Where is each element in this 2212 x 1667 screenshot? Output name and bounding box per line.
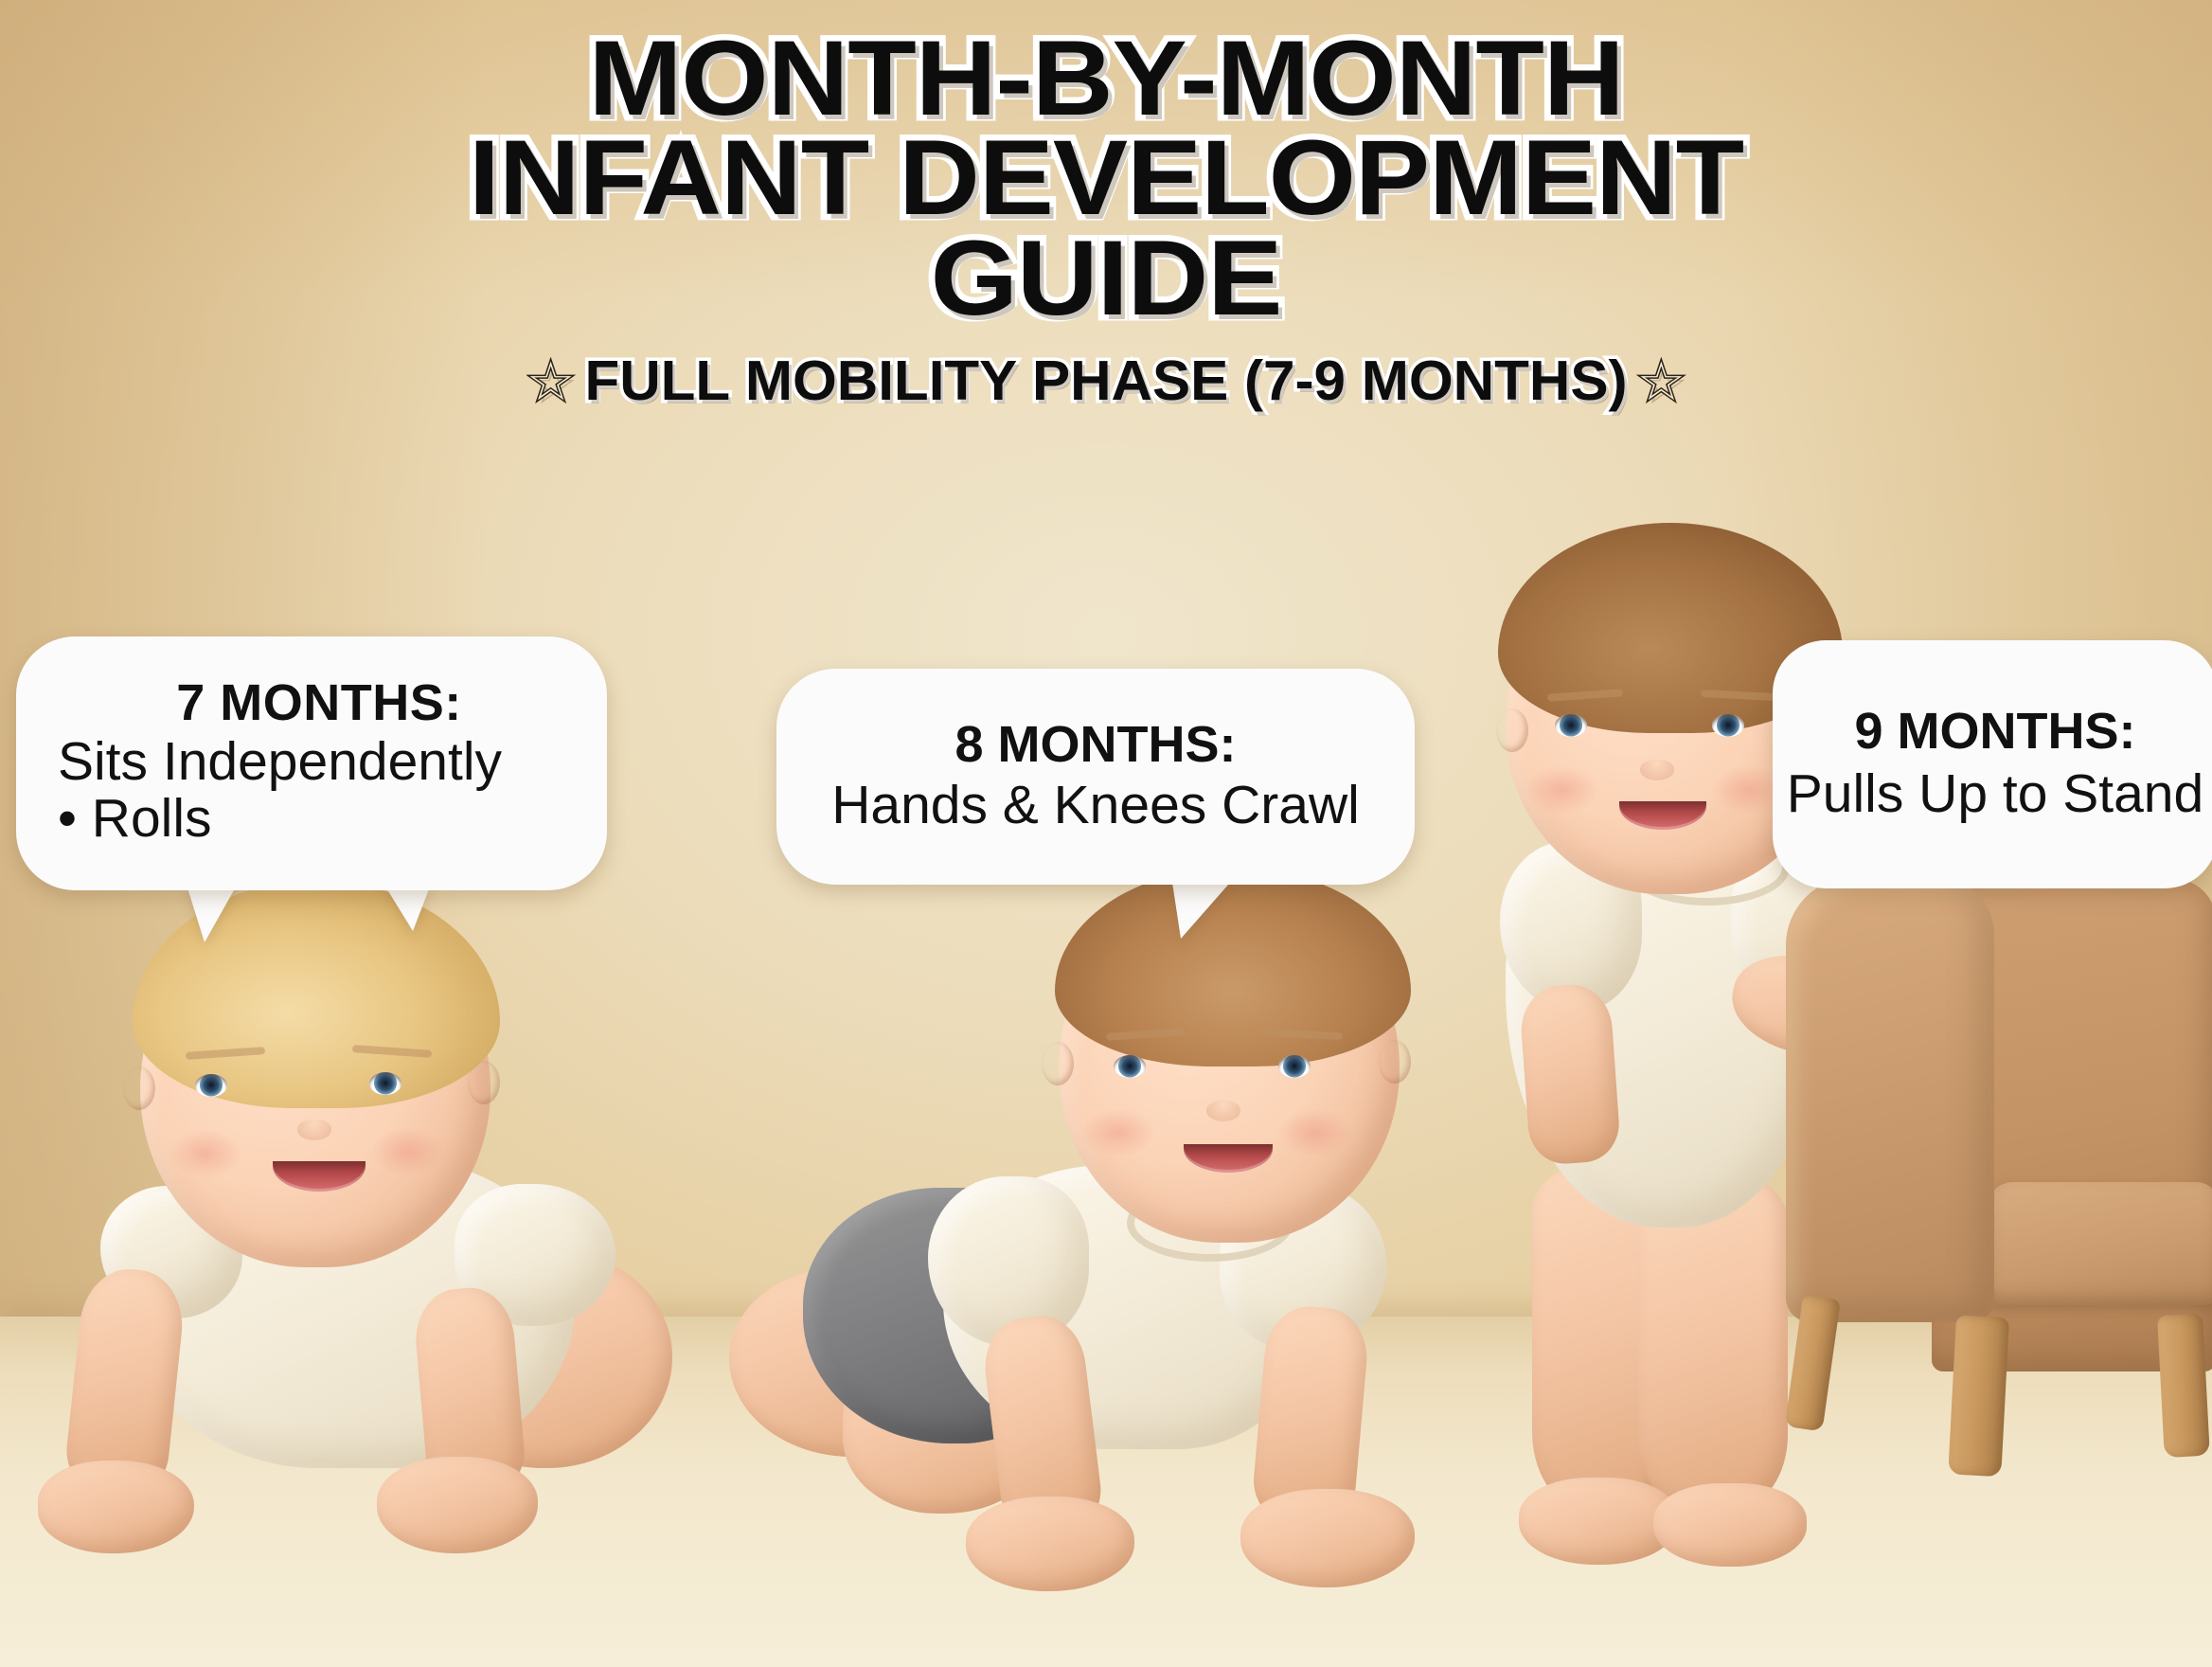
title-line-2: INFANT DEVELOPMENT (0, 128, 2212, 227)
bubble-heading-8-months: 8 MONTHS: (799, 718, 1392, 771)
chair-seat-cushion (1987, 1182, 2212, 1305)
baby2-right-ear (1379, 1040, 1411, 1084)
baby2-left-hand (966, 1497, 1134, 1591)
subtitle-text: FULL MOBILITY PHASE (7-9 MONTHS) (584, 350, 1627, 412)
bubble-body-7-months: Sits Independently • Rolls (58, 733, 580, 848)
baby1-right-eye (369, 1072, 401, 1095)
bubble-body-8-months: Hands & Knees Crawl (799, 777, 1392, 833)
armchair-prop (1780, 869, 2212, 1533)
baby3-left-cheek (1525, 765, 1598, 815)
baby-crawling-8-months (729, 871, 1449, 1591)
baby2-nose (1206, 1101, 1240, 1121)
chair-leg-front (1948, 1316, 2009, 1478)
baby2-right-hand (1240, 1489, 1415, 1587)
baby1-left-cheek (169, 1129, 242, 1178)
baby2-left-cheek (1081, 1108, 1155, 1157)
chair-leg-right (2157, 1314, 2210, 1458)
bubble-body-9-months: Pulls Up to Stand (1786, 765, 2204, 822)
baby1-left-ear (123, 1067, 155, 1110)
baby-sitting-7-months (19, 881, 682, 1582)
baby3-nose (1640, 760, 1674, 780)
bubble-body-7-months-line-1: Sits Independently (58, 733, 580, 790)
speech-bubble-tail-8-months (1171, 876, 1236, 939)
bubble-heading-9-months: 9 MONTHS: (1786, 705, 2204, 758)
poster-subtitle: ☆FULL MOBILITY PHASE (7-9 MONTHS)☆ (0, 349, 2212, 413)
speech-bubble-9-months[interactable]: 9 MONTHS: Pulls Up to Stand (1773, 640, 2212, 888)
baby1-right-ear (468, 1061, 500, 1104)
baby1-nose (297, 1120, 331, 1140)
baby1-left-hand (38, 1461, 194, 1553)
star-icon-left: ☆ (526, 351, 575, 411)
poster-title-block: MONTH-BY-MONTH INFANT DEVELOPMENT GUIDE … (0, 28, 2212, 413)
bubble-body-7-months-line-2: • Rolls (58, 790, 580, 847)
baby3-right-eye (1712, 714, 1744, 737)
baby1-right-cheek (371, 1127, 445, 1176)
baby3-left-ear (1496, 708, 1528, 752)
baby2-left-eye (1114, 1055, 1146, 1078)
title-line-3: GUIDE (0, 228, 2212, 328)
baby1-right-hand (377, 1457, 538, 1553)
baby2-left-ear (1042, 1042, 1074, 1085)
bubble-heading-7-months: 7 MONTHS: (58, 676, 580, 729)
baby1-left-eye (195, 1074, 227, 1097)
speech-bubble-8-months[interactable]: 8 MONTHS: Hands & Knees Crawl (776, 669, 1415, 885)
baby2-right-eye (1278, 1055, 1311, 1078)
baby2-right-cheek (1278, 1108, 1352, 1157)
infographic-poster: MONTH-BY-MONTH INFANT DEVELOPMENT GUIDE … (0, 0, 2212, 1667)
speech-bubble-7-months[interactable]: 7 MONTHS: Sits Independently • Rolls (16, 636, 607, 890)
title-line-1: MONTH-BY-MONTH (0, 28, 2212, 128)
baby3-left-eye (1555, 714, 1587, 737)
star-icon-right: ☆ (1637, 351, 1686, 411)
chair-armrest (1786, 877, 1994, 1322)
speech-bubble-tail-7-months-left (186, 882, 239, 942)
baby3-left-arm (1519, 982, 1622, 1166)
